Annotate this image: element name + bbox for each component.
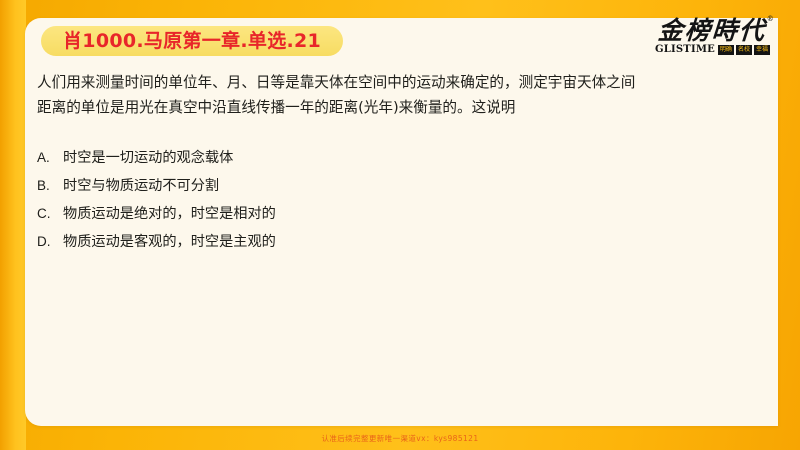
option-text: 物质运动是客观的，时空是主观的 [63, 228, 276, 256]
brand-tag: 名校 [736, 45, 752, 55]
slide-canvas: 金榜時代 ® GLISTIME 明确 名校 幸福 肖1000.马原第一章.单选.… [0, 0, 800, 450]
footer-watermark: 认准后续完整更新唯一渠道vx：kys985121 [0, 434, 800, 444]
brand-subtitle: GLISTIME 明确 名校 幸福 [655, 45, 770, 55]
answer-options-list: A. 时空是一切运动的观念载体 B. 时空与物质运动不可分割 C. 物质运动是绝… [37, 144, 737, 256]
brand-logo: 金榜時代 ® GLISTIME 明确 名校 幸福 [635, 12, 790, 60]
answer-option-a[interactable]: A. 时空是一切运动的观念载体 [37, 144, 737, 172]
answer-option-c[interactable]: C. 物质运动是绝对的，时空是相对的 [37, 200, 737, 228]
brand-name-cn-wrapper: 金榜時代 ® [658, 18, 768, 43]
brand-name-en: GLISTIME [655, 45, 715, 55]
option-text: 物质运动是绝对的，时空是相对的 [63, 200, 276, 228]
question-card: 肖1000.马原第一章.单选.21 人们用来测量时间的单位年、月、日等是靠天体在… [25, 18, 778, 426]
answer-option-d[interactable]: D. 物质运动是客观的，时空是主观的 [37, 228, 737, 256]
question-title-badge: 肖1000.马原第一章.单选.21 [41, 26, 343, 56]
brand-tag-group: 明确 名校 幸福 [718, 45, 770, 55]
option-letter: D. [37, 228, 63, 256]
brand-name-cn: 金榜時代 [657, 16, 767, 45]
answer-option-b[interactable]: B. 时空与物质运动不可分割 [37, 172, 737, 200]
option-letter: A. [37, 144, 63, 172]
option-letter: B. [37, 172, 63, 200]
question-line: 人们用来测量时间的单位年、月、日等是靠天体在空间中的运动来确定的，测定宇宙天体之… [37, 70, 757, 95]
question-line: 距离的单位是用光在真空中沿直线传播一年的距离(光年)来衡量的。这说明 [37, 95, 757, 120]
option-text: 时空是一切运动的观念载体 [63, 144, 233, 172]
brand-tag: 明确 [718, 45, 734, 55]
brand-tag: 幸福 [754, 45, 770, 55]
option-letter: C. [37, 200, 63, 228]
registered-trademark-icon: ® [767, 16, 776, 23]
option-text: 时空与物质运动不可分割 [63, 172, 219, 200]
question-stem: 人们用来测量时间的单位年、月、日等是靠天体在空间中的运动来确定的，测定宇宙天体之… [37, 70, 757, 120]
page-title: 肖1000.马原第一章.单选.21 [63, 32, 321, 51]
